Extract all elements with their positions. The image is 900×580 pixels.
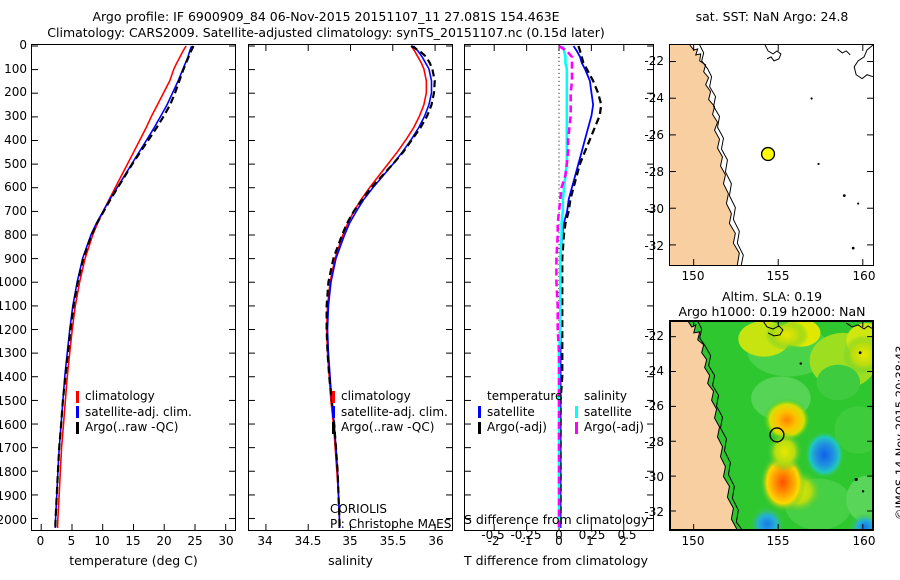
tdiff-xtick-1: 1	[580, 534, 600, 548]
depth-tick-900: 900	[0, 252, 27, 266]
sst-map-panel	[669, 44, 874, 266]
data-centre-name: CORIOLIS	[330, 502, 451, 517]
salinity-difference-argo-curve	[556, 46, 572, 528]
legend-label-argo-raw: Argo(..raw -QC)	[85, 420, 178, 436]
sal-xtick-35: 35	[339, 534, 361, 548]
temp-xtick-10: 10	[91, 534, 113, 548]
legend-item-tdiff-satellite: satellite	[478, 405, 562, 421]
sla-island-dot-3	[855, 478, 858, 481]
depth-ticks-left	[32, 46, 38, 519]
temperature-plot-area	[32, 45, 235, 530]
depth-tick-2000: 2000	[0, 513, 27, 527]
legend-swatch-sal-climatology	[332, 391, 335, 403]
sal-xtick-34: 34	[254, 534, 276, 548]
sla-warm-eddy-bridge	[767, 432, 803, 472]
salinity-depth-ticks-right	[446, 46, 452, 519]
sst-xtick-155: 155	[763, 269, 793, 283]
legend-swatch-sdiff-argo-adj	[575, 422, 578, 434]
sla-field	[670, 321, 873, 530]
tdiff-xtick-neg-1: -1	[514, 534, 539, 548]
temperature-legend: climatology satellite-adj. clim. Argo(..…	[76, 389, 192, 436]
temp-xtick-5: 5	[64, 534, 79, 548]
sla-xtick-155: 155	[763, 534, 793, 548]
sst-map-area	[670, 45, 873, 265]
island-dot-1	[811, 97, 813, 99]
depth-tick-1600: 1600	[0, 418, 27, 432]
sla-ytick--32: -32	[630, 505, 664, 519]
sla-island-dot-1	[800, 362, 802, 364]
legend-label-sdiff-argo-adj: Argo(-adj)	[584, 420, 644, 436]
salinity-depth-ticks-left	[249, 46, 255, 519]
tdiff-xtick-2: 2	[613, 534, 633, 548]
depth-tick-1500: 1500	[0, 394, 27, 408]
legend-item-climatology: climatology	[76, 389, 192, 405]
sla-ytick--30: -30	[630, 470, 664, 484]
depth-tick-100: 100	[0, 62, 27, 76]
depth-tick-0: 0	[0, 38, 27, 52]
legend-label-tdiff-argo-adj: Argo(-adj)	[487, 420, 547, 436]
legend-swatch-climatology	[76, 391, 79, 403]
legend-header-salinity: salinity	[584, 389, 627, 405]
depth-tick-1300: 1300	[0, 346, 27, 360]
sst-map-title: sat. SST: NaN Argo: 24.8	[652, 9, 892, 24]
salinity-climatology-curve	[327, 46, 427, 528]
legend-swatch-tdiff-argo-adj	[478, 422, 481, 434]
salinity-xticks-top	[266, 45, 435, 51]
depth-tick-500: 500	[0, 157, 27, 171]
legend-header-temperature-row: temperature	[478, 389, 562, 405]
legend-label-tdiff-satellite: satellite	[487, 405, 535, 421]
difference-plot-area	[465, 45, 653, 530]
sst-xtick-150: 150	[678, 269, 708, 283]
legend-swatch-satellite-adj	[76, 406, 79, 418]
data-centre-annotation: CORIOLIS PI: Christophe MAES	[330, 502, 451, 532]
sst-ytick--26: -26	[630, 128, 664, 142]
temp-xtick-0: 0	[33, 534, 48, 548]
difference-profile-panel	[464, 44, 654, 531]
depth-tick-1100: 1100	[0, 299, 27, 313]
sla-ytick--28: -28	[630, 435, 664, 449]
salinity-difference-axis-title: S difference from climatology	[464, 512, 654, 527]
legend-swatch-spacer-sal	[575, 391, 578, 403]
legend-swatch-tdiff-satellite	[478, 406, 481, 418]
imos-credit: ©IMOS 14-Nov-2015 20:38:43	[893, 346, 900, 520]
depth-tick-1200: 1200	[0, 323, 27, 337]
depth-tick-400: 400	[0, 133, 27, 147]
depth-tick-1900: 1900	[0, 489, 27, 503]
legend-label-climatology: climatology	[85, 389, 155, 405]
temp-xtick-25: 25	[184, 534, 206, 548]
temperature-difference-satellite-curve	[561, 46, 594, 528]
sla-map-area	[670, 321, 873, 530]
legend-label-sal-satellite-adj: satellite-adj. clim.	[341, 405, 448, 421]
salinity-profile-panel	[248, 44, 453, 531]
sla-ytick--26: -26	[630, 399, 664, 413]
sst-ytick--32: -32	[630, 239, 664, 253]
legend-header-temperature: temperature	[487, 389, 562, 405]
island-dot-2	[817, 163, 819, 165]
island-dot-3	[843, 194, 846, 197]
legend-swatch-sal-satellite-adj	[332, 406, 335, 418]
depth-tick-1400: 1400	[0, 370, 27, 384]
sst-ytick--30: -30	[630, 202, 664, 216]
depth-tick-1800: 1800	[0, 465, 27, 479]
temp-xtick-30: 30	[215, 534, 237, 548]
sla-map-panel	[669, 320, 874, 531]
salinity-legend: climatology satellite-adj. clim. Argo(..…	[332, 389, 448, 436]
sst-ytick--24: -24	[630, 91, 664, 105]
legend-item-sal-argo-raw: Argo(..raw -QC)	[332, 420, 448, 436]
sst-xtick-160: 160	[849, 269, 879, 283]
sal-xtick-36: 36	[425, 534, 447, 548]
legend-item-sdiff-argo-adj: Argo(-adj)	[575, 420, 644, 436]
sla-island-dot-4	[862, 490, 864, 492]
sal-xtick-34-5: 34.5	[291, 534, 325, 548]
legend-item-sal-climatology: climatology	[332, 389, 448, 405]
temp-xtick-20: 20	[153, 534, 175, 548]
legend-swatch-sal-argo-raw	[332, 422, 335, 434]
legend-swatch-sdiff-satellite	[575, 406, 578, 418]
depth-tick-1700: 1700	[0, 441, 27, 455]
island-dot-4	[857, 202, 859, 204]
temperature-xticks	[41, 524, 225, 530]
sal-xtick-35-5: 35.5	[376, 534, 410, 548]
legend-swatch-spacer-temp	[478, 391, 481, 403]
sla-map-title-line-2: Argo h1000: 0.19 h2000: NaN	[652, 304, 892, 319]
tdiff-xtick-0: 0	[549, 534, 569, 548]
figure-canvas: Argo profile: IF 6900909_84 06-Nov-2015 …	[0, 0, 900, 580]
sla-xtick-150: 150	[678, 534, 708, 548]
temperature-difference-axis-title: T difference from climatology	[464, 553, 654, 568]
depth-tick-1000: 1000	[0, 275, 27, 289]
difference-depth-ticks-left	[465, 46, 471, 519]
sla-island-dot-2	[859, 351, 862, 354]
temperature-axis-title: temperature (deg C)	[31, 553, 236, 568]
salinity-plot-area	[249, 45, 452, 530]
depth-tick-200: 200	[0, 85, 27, 99]
legend-swatch-argo-raw	[76, 422, 79, 434]
legend-label-sal-climatology: climatology	[341, 389, 411, 405]
legend-label-sal-argo-raw: Argo(..raw -QC)	[341, 420, 434, 436]
legend-item-satellite-adj: satellite-adj. clim.	[76, 405, 192, 421]
depth-tick-700: 700	[0, 204, 27, 218]
sst-ytick--28: -28	[630, 165, 664, 179]
legend-label-sdiff-satellite: satellite	[584, 405, 632, 421]
title-line-1: Argo profile: IF 6900909_84 06-Nov-2015 …	[0, 9, 652, 25]
depth-tick-300: 300	[0, 109, 27, 123]
sla-ytick--22: -22	[630, 329, 664, 343]
sla-ytick--24: -24	[630, 364, 664, 378]
depth-tick-800: 800	[0, 228, 27, 242]
title-line-2: Climatology: CARS2009. Satellite-adjuste…	[0, 25, 652, 41]
island-dot-5	[852, 247, 855, 250]
sla-map-title-line-1: Altim. SLA: 0.19	[652, 289, 892, 304]
legend-item-sal-satellite-adj: satellite-adj. clim.	[332, 405, 448, 421]
temperature-satellite-adjusted-curve	[55, 46, 191, 528]
argo-float-marker[interactable]	[762, 148, 775, 161]
sla-xtick-160: 160	[849, 534, 879, 548]
legend-item-argo-raw: Argo(..raw -QC)	[76, 420, 192, 436]
temperature-profile-panel	[31, 44, 236, 531]
legend-item-tdiff-argo-adj: Argo(-adj)	[478, 420, 562, 436]
salinity-axis-title: salinity	[248, 553, 453, 568]
depth-tick-600: 600	[0, 180, 27, 194]
legend-label-satellite-adj: satellite-adj. clim.	[85, 405, 192, 421]
sst-ytick--22: -22	[630, 54, 664, 68]
salinity-satellite-adjusted-curve	[328, 46, 432, 528]
temp-xtick-15: 15	[122, 534, 144, 548]
difference-legend-temperature: temperature satellite Argo(-adj)	[478, 389, 562, 436]
depth-ticks-right	[229, 46, 235, 519]
tdiff-xtick-neg-2: -2	[481, 534, 506, 548]
sla-cold-eddy-1	[805, 431, 845, 479]
figure-title: Argo profile: IF 6900909_84 06-Nov-2015 …	[0, 9, 652, 41]
principal-investigator: PI: Christophe MAES	[330, 517, 451, 532]
